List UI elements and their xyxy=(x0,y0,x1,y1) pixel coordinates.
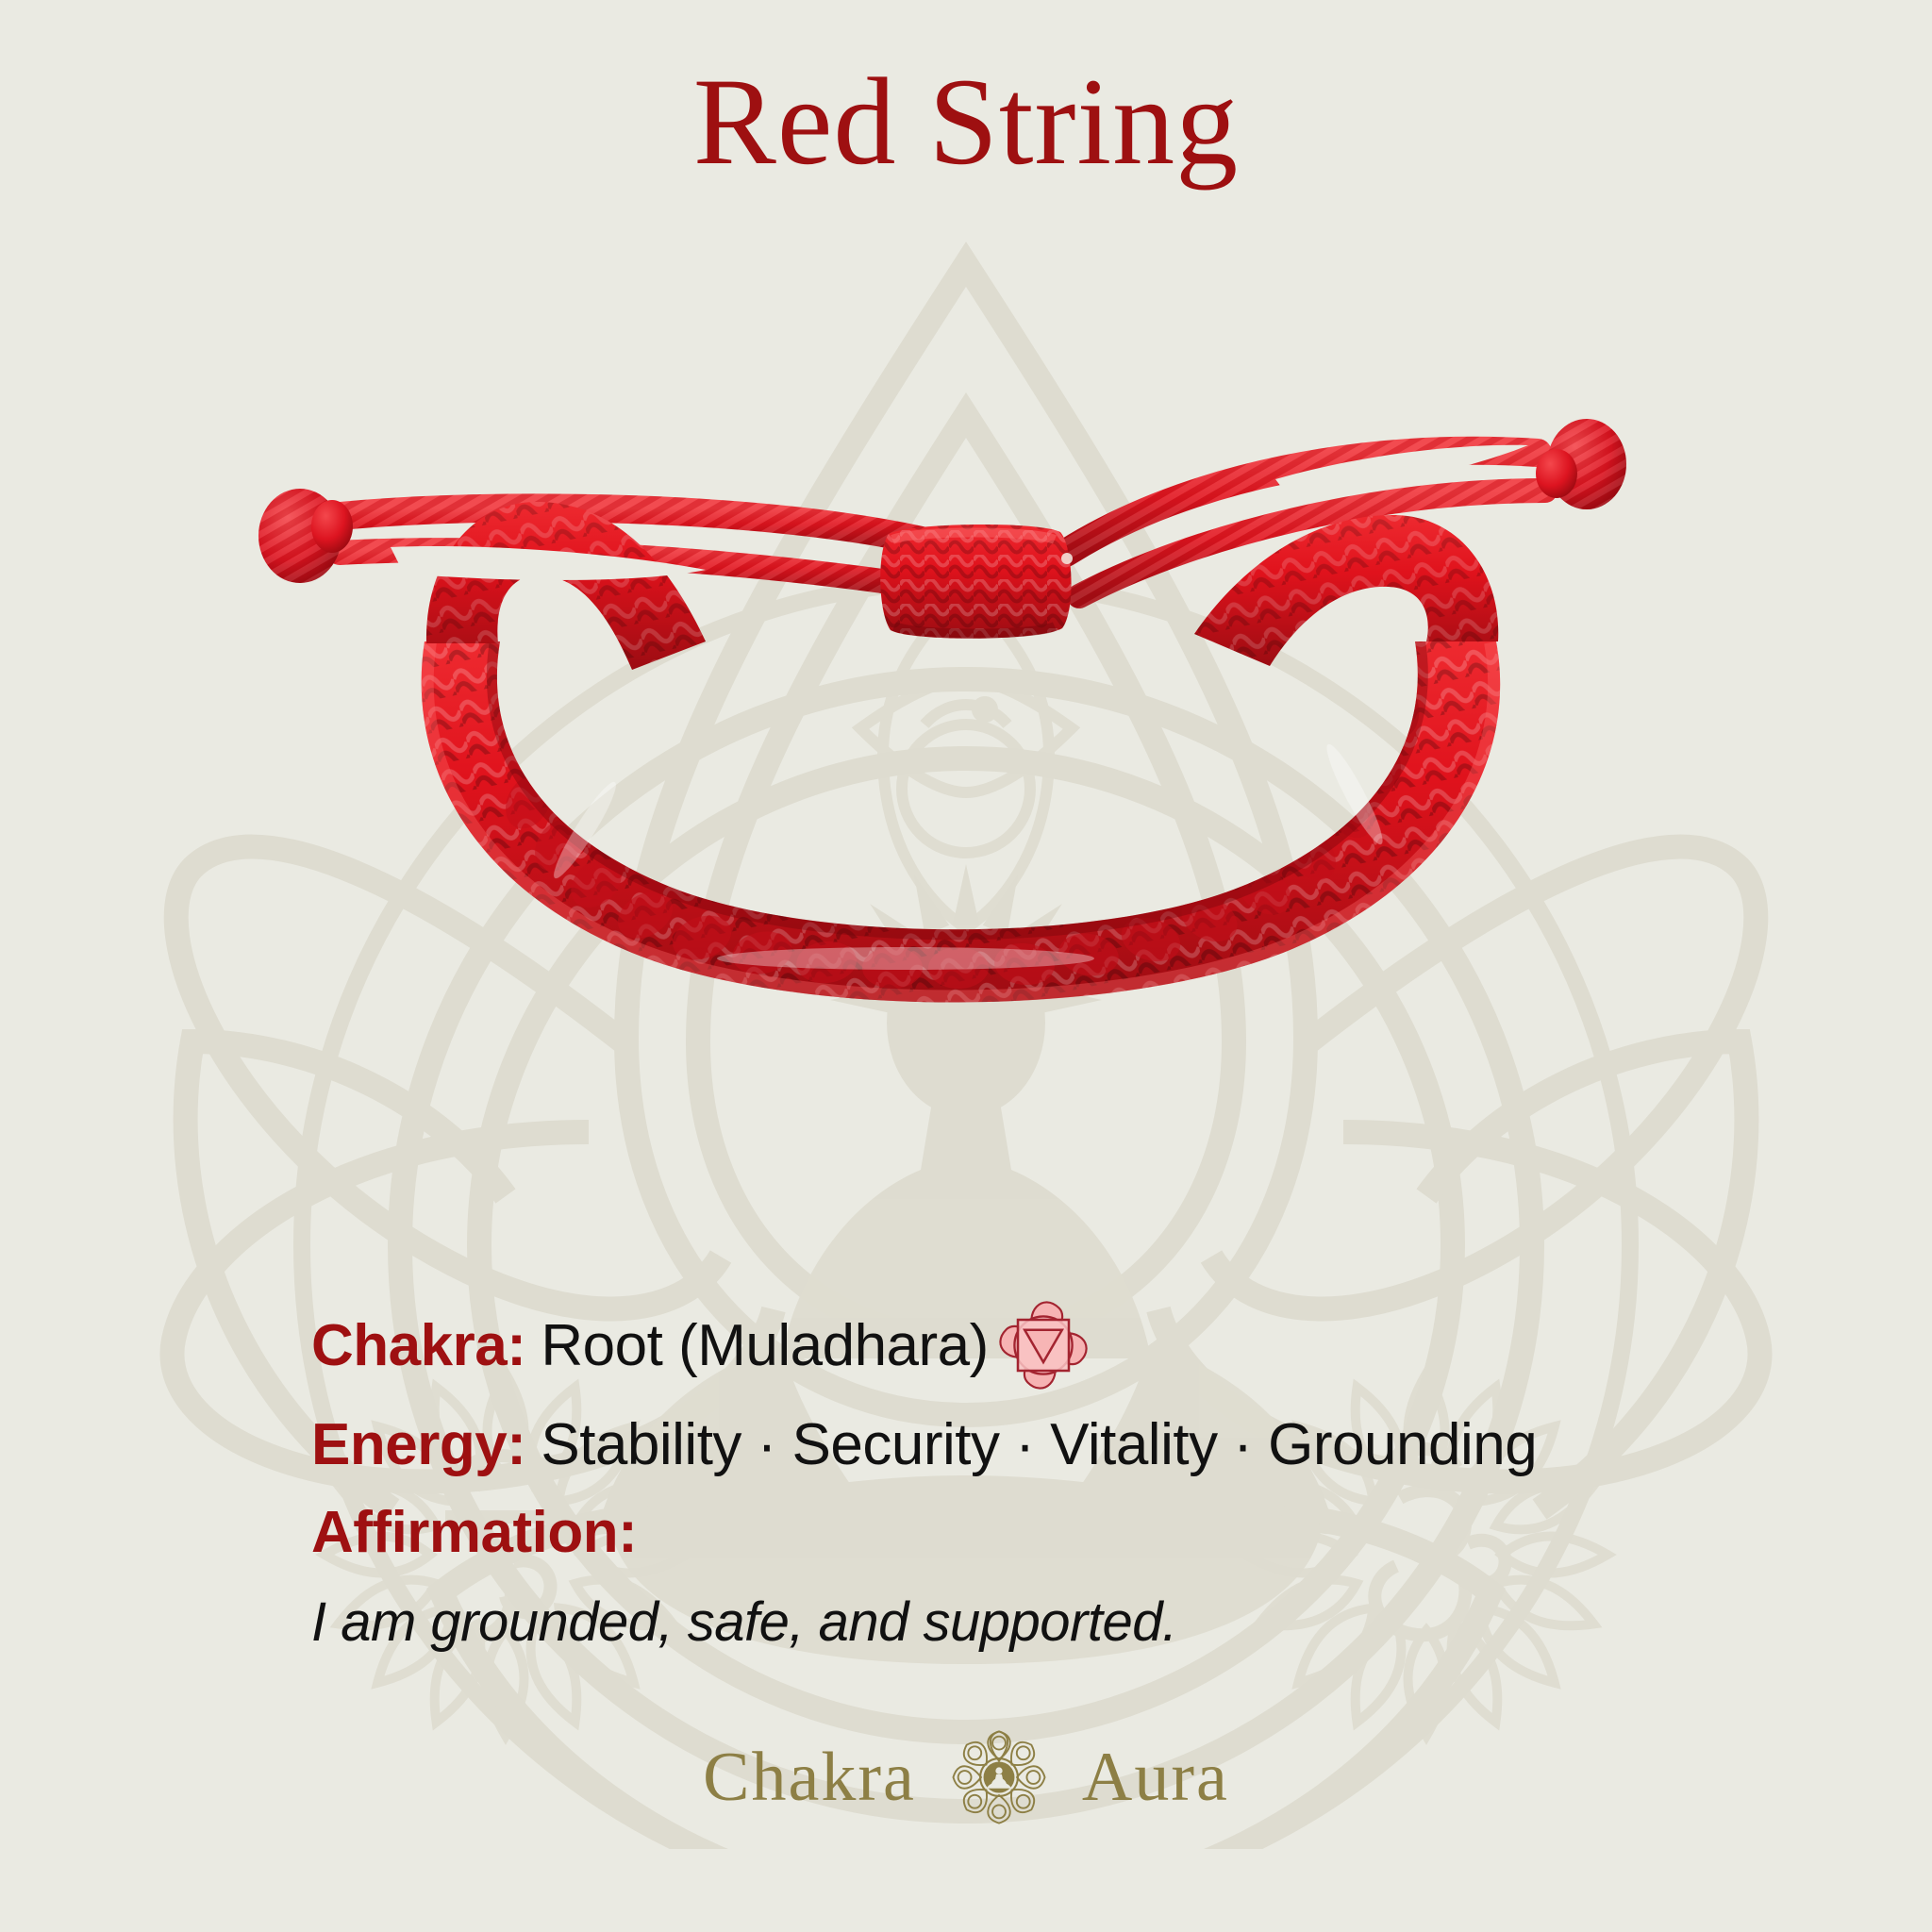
cord-end-knot-left xyxy=(258,489,353,583)
brand-name-first: Chakra xyxy=(703,1742,916,1812)
lotus-mandala-icon xyxy=(950,1728,1048,1826)
affirmation-text: I am grounded, safe, and supported. xyxy=(311,1591,1840,1654)
energy-row: Energy: Stability · Security · Vitality … xyxy=(311,1411,1840,1478)
muladhara-chakra-icon xyxy=(992,1294,1094,1396)
product-card: Red String xyxy=(0,0,1932,1932)
product-image-red-string-bracelet xyxy=(189,358,1736,1038)
product-attributes: Chakra: Root (Muladhara) xyxy=(311,1294,1840,1654)
chakra-label: Chakra: xyxy=(311,1312,525,1379)
chakra-row: Chakra: Root (Muladhara) xyxy=(311,1294,1840,1396)
brand-name-second: Aura xyxy=(1082,1742,1229,1812)
cord-end-knot-right xyxy=(1536,419,1626,509)
energy-label: Energy: xyxy=(311,1411,525,1478)
energy-value: Stability · Security · Vitality · Ground… xyxy=(541,1411,1537,1478)
page-title: Red String xyxy=(0,55,1932,190)
center-sliding-knot xyxy=(880,525,1073,639)
brand-footer: Chakra xyxy=(0,1728,1932,1826)
chakra-value: Root (Muladhara) xyxy=(541,1312,988,1379)
affirmation-label: Affirmation: xyxy=(311,1499,1840,1566)
